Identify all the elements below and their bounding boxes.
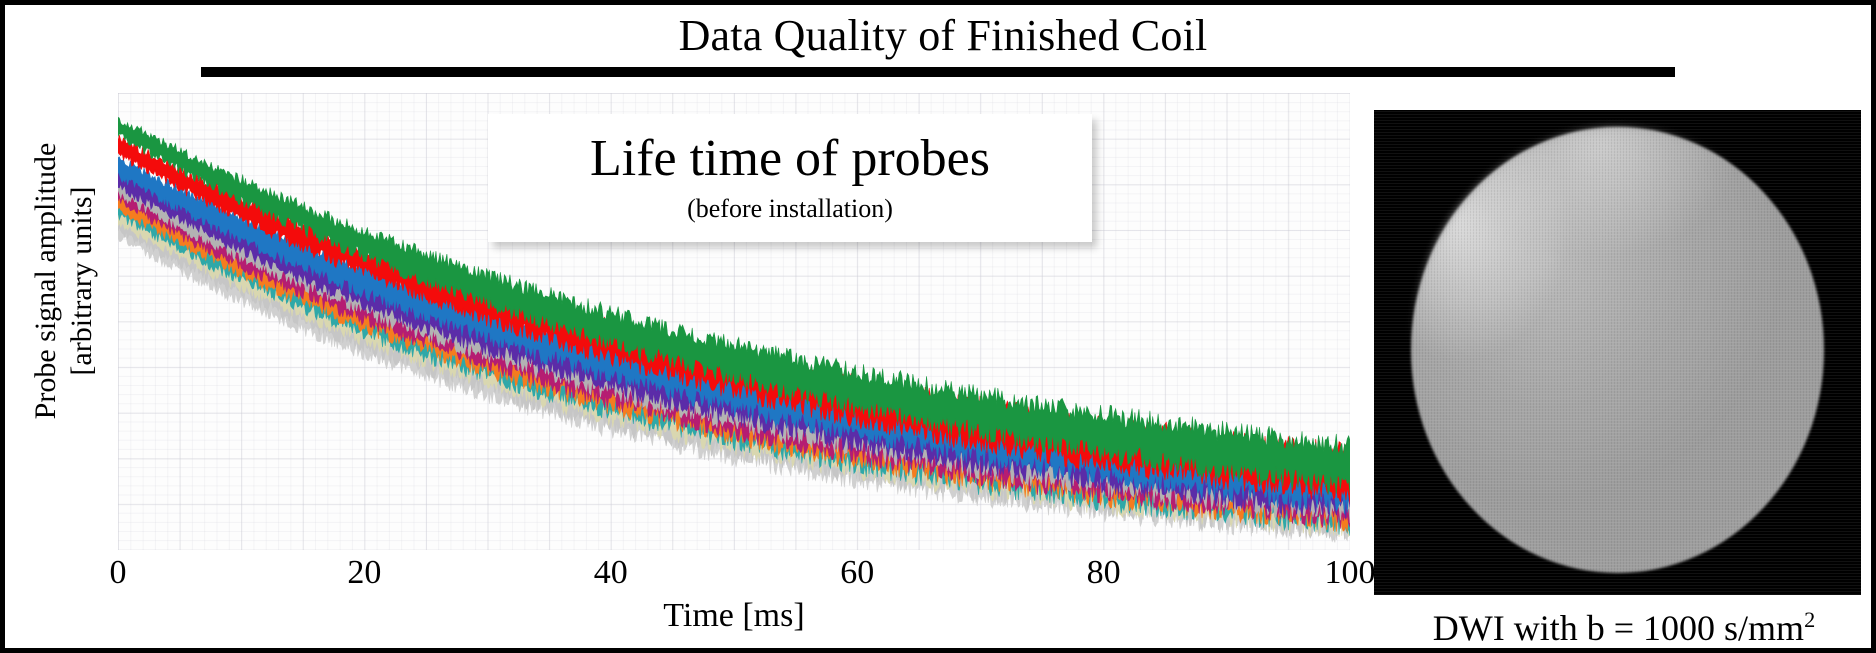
x-tick-label: 80 [1087,553,1121,593]
mri-caption: DWI with b = 1000 s/mm2 [1374,597,1874,651]
x-tick-label: 60 [840,553,874,593]
callout-subtitle: (before installation) [498,192,1082,226]
x-axis-ticks: 020406080100 [118,553,1350,597]
page-title: Data Quality of Finished Coil [5,11,1876,61]
callout-box: Life time of probes (before installation… [488,114,1092,242]
mri-panel [1374,110,1861,595]
chart-panel: Probe signal amplitude [arbitrary units]… [10,85,1365,653]
y-axis-label-line1: Probe signal amplitude [28,71,64,491]
x-tick-label: 0 [110,553,127,593]
title-underline-rule [201,67,1675,77]
figure-root: Data Quality of Finished Coil Probe sign… [0,0,1876,653]
y-axis-label-line2: [arbitrary units] [64,71,100,491]
x-tick-label: 100 [1325,553,1376,593]
dwi-phantom-image [1374,110,1861,595]
x-tick-label: 40 [594,553,628,593]
mri-caption-superscript: 2 [1804,607,1815,632]
mri-caption-text: DWI with b = 1000 s/mm [1433,608,1804,648]
x-axis-label: Time [ms] [118,595,1350,637]
phantom-rim-highlight [1411,127,1825,573]
callout-title: Life time of probes [498,128,1082,190]
x-tick-label: 20 [347,553,381,593]
